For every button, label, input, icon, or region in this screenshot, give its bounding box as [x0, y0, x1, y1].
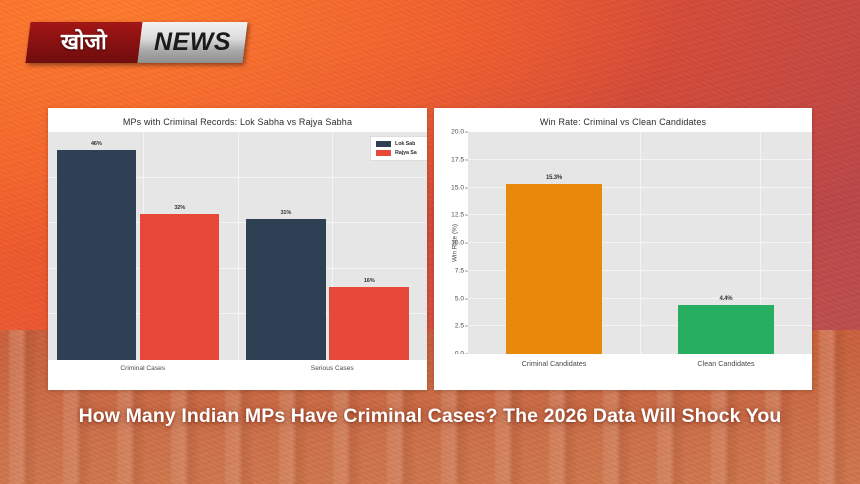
- chart1-vgridline: [238, 132, 239, 360]
- chart2-y-axis: Win Rate (%) 0.02.55.07.510.012.515.017.…: [434, 132, 468, 354]
- chart2-x-axis: Criminal CandidatesClean Candidates: [434, 354, 812, 376]
- legend-label-lok-sabha: Lok Sab: [395, 141, 415, 147]
- chart2-vgridline: [640, 132, 641, 354]
- chart2-y-tick-label: 12.5: [451, 212, 464, 219]
- chart2-x-tick-label: Clean Candidates: [666, 359, 786, 368]
- chart1-x-tick-label: Criminal Cases: [83, 365, 203, 372]
- news-graphic-canvas: खोजो NEWS MPs with Criminal Records: Lok…: [0, 0, 860, 484]
- chart1-x-axis: Criminal CasesSerious Cases: [48, 360, 427, 382]
- chart1-title: MPs with Criminal Records: Lok Sabha vs …: [48, 108, 427, 132]
- chart2-bar-value-label: 15.3%: [524, 175, 584, 181]
- brand-logo: खोजो NEWS: [25, 22, 247, 63]
- chart2-bar: [506, 184, 602, 354]
- logo-secondary-badge: NEWS: [137, 22, 247, 63]
- chart2-bar: [678, 305, 774, 354]
- chart-panel-win-rate: Win Rate: Criminal vs Clean Candidates W…: [434, 108, 812, 390]
- chart2-y-tick-label: 15.0: [451, 184, 464, 191]
- chart1-bar: [140, 214, 220, 360]
- chart1-bar-value-label: 16%: [339, 278, 399, 284]
- chart1-bar-value-label: 32%: [150, 205, 210, 211]
- chart2-title: Win Rate: Criminal vs Clean Candidates: [434, 108, 812, 132]
- chart-panel-mps-criminal-records: MPs with Criminal Records: Lok Sabha vs …: [48, 108, 427, 390]
- chart1-plot: 46%32%31%16%: [48, 132, 427, 360]
- legend-label-rajya-sabha: Rajya Sa: [395, 150, 417, 156]
- chart2-plot: 15.3%4.4%: [468, 132, 812, 354]
- chart1-bar-value-label: 46%: [66, 141, 126, 147]
- legend-swatch-lok-sabha: [376, 141, 391, 147]
- chart1-bar: [57, 150, 137, 360]
- legend-item-rajya-sabha: Rajya Sa: [376, 150, 422, 156]
- headline-caption: How Many Indian MPs Have Criminal Cases?…: [0, 405, 860, 428]
- chart2-bar-value-label: 4.4%: [696, 296, 756, 302]
- chart1-plot-area: 46%32%31%16% Lok Sab Rajya Sa: [48, 132, 427, 360]
- chart2-y-tick-label: 5.0: [455, 295, 464, 302]
- chart2-plot-area: Win Rate (%) 0.02.55.07.510.012.515.017.…: [434, 132, 812, 354]
- chart1-legend: Lok Sab Rajya Sa: [370, 136, 427, 161]
- chart2-y-tick-label: 7.5: [455, 267, 464, 274]
- chart1-bar: [246, 219, 326, 360]
- legend-item-lok-sabha: Lok Sab: [376, 141, 422, 147]
- legend-swatch-rajya-sabha: [376, 150, 391, 156]
- chart2-x-tick-label: Criminal Candidates: [494, 359, 614, 368]
- logo-primary-badge: खोजो: [25, 22, 142, 63]
- logo-primary-text: खोजो: [61, 31, 107, 55]
- chart2-y-tick-label: 20.0: [451, 129, 464, 136]
- chart2-y-tick-label: 17.5: [451, 156, 464, 163]
- chart1-bar: [329, 287, 409, 360]
- chart2-y-tick-label: 10.0: [451, 240, 464, 247]
- chart1-x-tick-label: Serious Cases: [272, 365, 392, 372]
- chart1-bar-value-label: 31%: [256, 210, 316, 216]
- chart2-y-tick-label: 2.5: [455, 323, 464, 330]
- logo-secondary-text: NEWS: [154, 30, 231, 55]
